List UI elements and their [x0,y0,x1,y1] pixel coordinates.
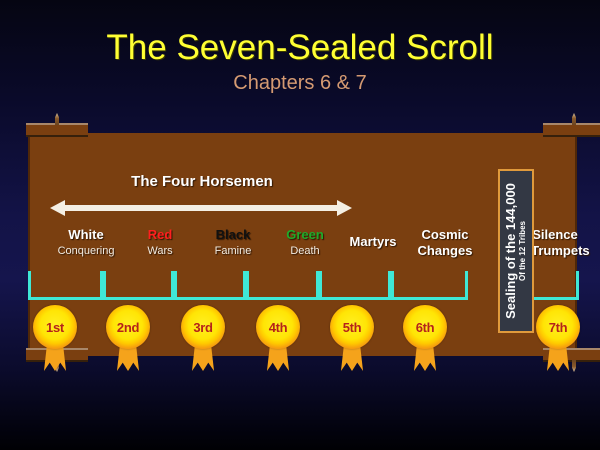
scroll-rod-knob-icon [572,113,576,125]
seal-badge-7: 7th [535,305,581,371]
sealing-callout-title: Sealing of the 144,000 [504,183,517,319]
seal-label-4: 4th [269,320,288,335]
seal-badge-6: 6th [402,305,448,371]
four-horsemen-span-arrow-icon [50,200,352,216]
seal-label-6: 6th [416,320,435,335]
seal-label-7: 7th [549,320,568,335]
seal-disc-icon: 3rd [181,305,225,349]
seal-label-1: 1st [46,320,64,335]
segment-bracket-2 [100,271,177,300]
sealing-callout-subtitle: Of the 12 Tribes [518,221,528,281]
segment-title-6b: Changes [399,243,491,259]
page-subtitle: Chapters 6 & 7 [0,72,600,95]
seal-badge-2: 2nd [105,305,151,371]
scroll-rod-top-left [26,123,88,137]
seal-badge-4: 4th [255,305,301,371]
arrow-head-right-icon [337,200,352,216]
seal-badge-5: 5th [329,305,375,371]
seal-disc-icon: 7th [536,305,580,349]
segment-bracket-6 [388,271,468,300]
segment-bracket-4 [243,271,322,300]
segment-bracket-1 [28,271,106,300]
scroll-rod-knob-icon [55,113,59,125]
seal-label-2: 2nd [117,320,139,335]
sealing-144000-callout: Sealing of the 144,000 Of the 12 Tribes [498,169,534,333]
seal-disc-icon: 6th [403,305,447,349]
seal-disc-icon: 1st [33,305,77,349]
seal-disc-icon: 4th [256,305,300,349]
seal-badge-3: 3rd [180,305,226,371]
seal-disc-icon: 5th [330,305,374,349]
segment-title-6: Cosmic [399,227,491,243]
scroll-rod-top-right [543,123,600,137]
segment-bracket-5 [316,271,394,300]
sealing-callout-text: Sealing of the 144,000 Of the 12 Tribes [500,171,532,331]
seal-label-3: 3rd [193,320,212,335]
seal-label-5: 5th [343,320,362,335]
four-horsemen-label: The Four Horsemen [52,173,352,190]
arrow-shaft [63,205,339,211]
page-title: The Seven-Sealed Scroll [0,28,600,68]
seal-disc-icon: 2nd [106,305,150,349]
seal-badge-1: 1st [32,305,78,371]
segment-bracket-3 [171,271,249,300]
slide-canvas: The Seven-Sealed Scroll Chapters 6 & 7 T… [0,0,600,450]
segment-label-6: Cosmic Changes [399,227,491,259]
scroll-diagram: The Four Horsemen White Conquering Red W… [0,115,600,375]
